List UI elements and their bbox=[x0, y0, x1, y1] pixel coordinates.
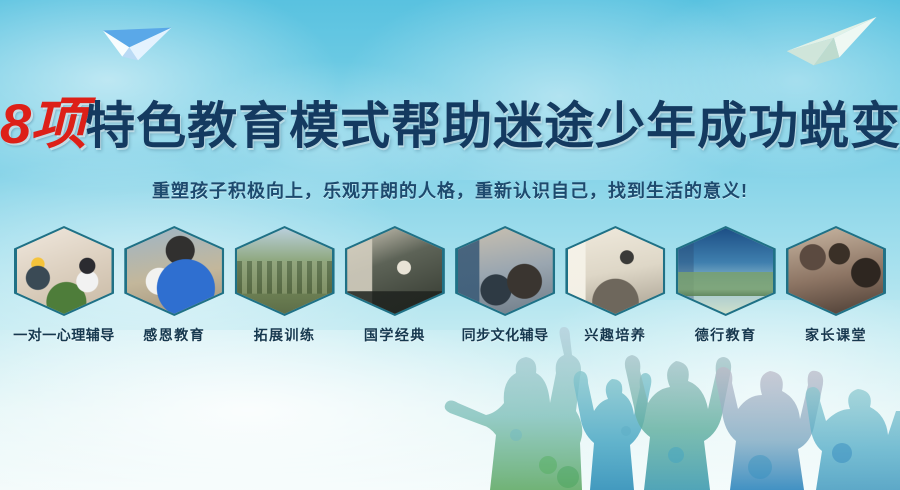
calligraphy-class-photo bbox=[568, 228, 663, 314]
hexagon-frame bbox=[14, 226, 114, 316]
outdoor-training-formation-photo bbox=[237, 228, 332, 314]
watercolor-crowd-silhouette bbox=[430, 315, 900, 490]
program-item[interactable]: 拓展训练 bbox=[235, 226, 335, 345]
hexagon-frame bbox=[786, 226, 886, 316]
paper-plane-icon bbox=[98, 14, 174, 67]
hexagon-frame bbox=[455, 226, 555, 316]
hexagon-frame bbox=[345, 226, 445, 316]
subtitle: 重塑孩子积极向上，乐观开朗的人格，重新认识自己，找到生活的意义! bbox=[0, 177, 900, 203]
headline-highlight: 8项 bbox=[0, 92, 85, 155]
virtue-book-cover-photo bbox=[678, 228, 773, 314]
counseling-session-photo bbox=[17, 228, 112, 314]
parents-meeting-photo bbox=[788, 228, 883, 314]
program-label: 一对一心理辅导 bbox=[13, 325, 115, 345]
hexagon-frame bbox=[565, 226, 665, 316]
tutoring-classroom-photo bbox=[458, 228, 553, 314]
program-item[interactable]: 感恩教育 bbox=[124, 226, 224, 345]
program-label: 感恩教育 bbox=[143, 325, 205, 345]
headline: 8项特色教育模式帮助迷途少年成功蜕变 bbox=[0, 96, 900, 152]
hexagon-frame bbox=[124, 226, 224, 316]
promo-banner: 8项特色教育模式帮助迷途少年成功蜕变 重塑孩子积极向上，乐观开朗的人格，重新认识… bbox=[0, 0, 900, 490]
hexagon-frame bbox=[676, 226, 776, 316]
paper-plane-icon bbox=[780, 5, 884, 74]
students-hugging-photo bbox=[127, 228, 222, 314]
program-item[interactable]: 一对一心理辅导 bbox=[14, 226, 114, 345]
classroom-lecture-photo bbox=[347, 228, 442, 314]
headline-rest: 特色教育模式帮助迷途少年成功蜕变 bbox=[85, 98, 900, 154]
hexagon-frame bbox=[235, 226, 335, 316]
program-label: 拓展训练 bbox=[254, 325, 316, 345]
program-label: 国学经典 bbox=[364, 325, 426, 345]
